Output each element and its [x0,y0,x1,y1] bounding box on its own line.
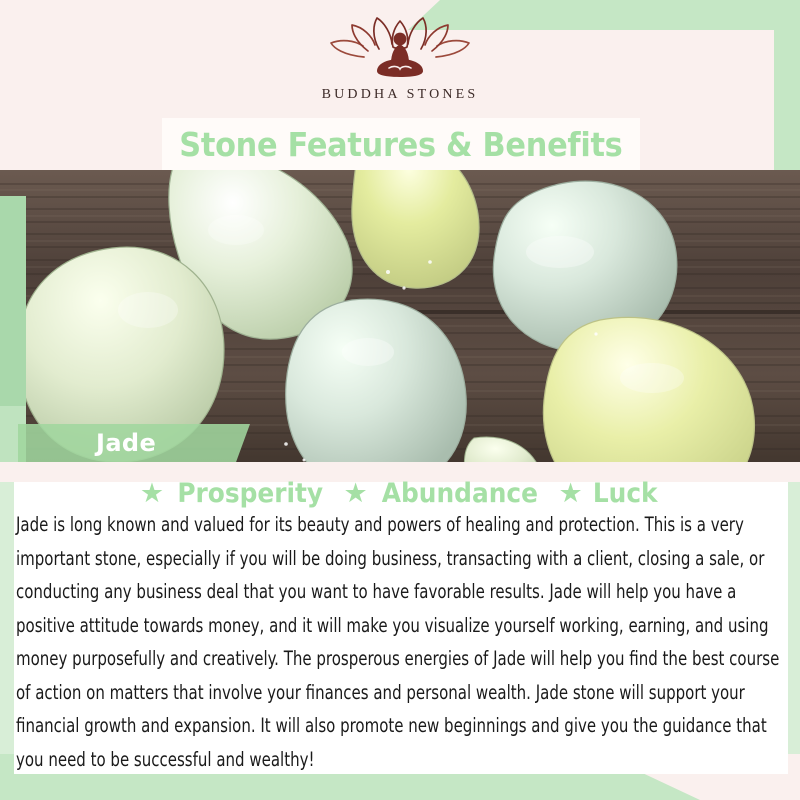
benefit-item: ★ Luck [559,478,661,509]
star-icon: ★ [140,480,164,507]
lotus-meditation-icon [325,15,475,83]
title-banner: Stone Features & Benefits [162,118,640,170]
benefits-row: ★ Prosperity ★ Abundance ★ Luck [0,478,800,509]
stone-photo [0,170,800,462]
page-title: Stone Features & Benefits [179,125,622,164]
star-icon: ★ [344,480,368,507]
stone-name-text: Jade [96,429,156,457]
brand-header: BUDDHA STONES [0,0,800,118]
benefit-label: Prosperity [177,478,323,509]
star-icon: ★ [559,480,583,507]
brand-wordmark: BUDDHA STONES [322,87,479,103]
benefit-item: ★ Abundance [344,478,545,509]
infographic-card: BUDDHA STONES Stone Features & Benefits [0,0,800,800]
stone-description: Jade is long known and valued for its be… [16,508,788,776]
benefit-label: Luck [593,478,658,509]
benefit-item: ★ Prosperity [140,478,330,509]
stone-name-label: Jade [18,424,250,462]
benefit-label: Abundance [382,478,538,509]
